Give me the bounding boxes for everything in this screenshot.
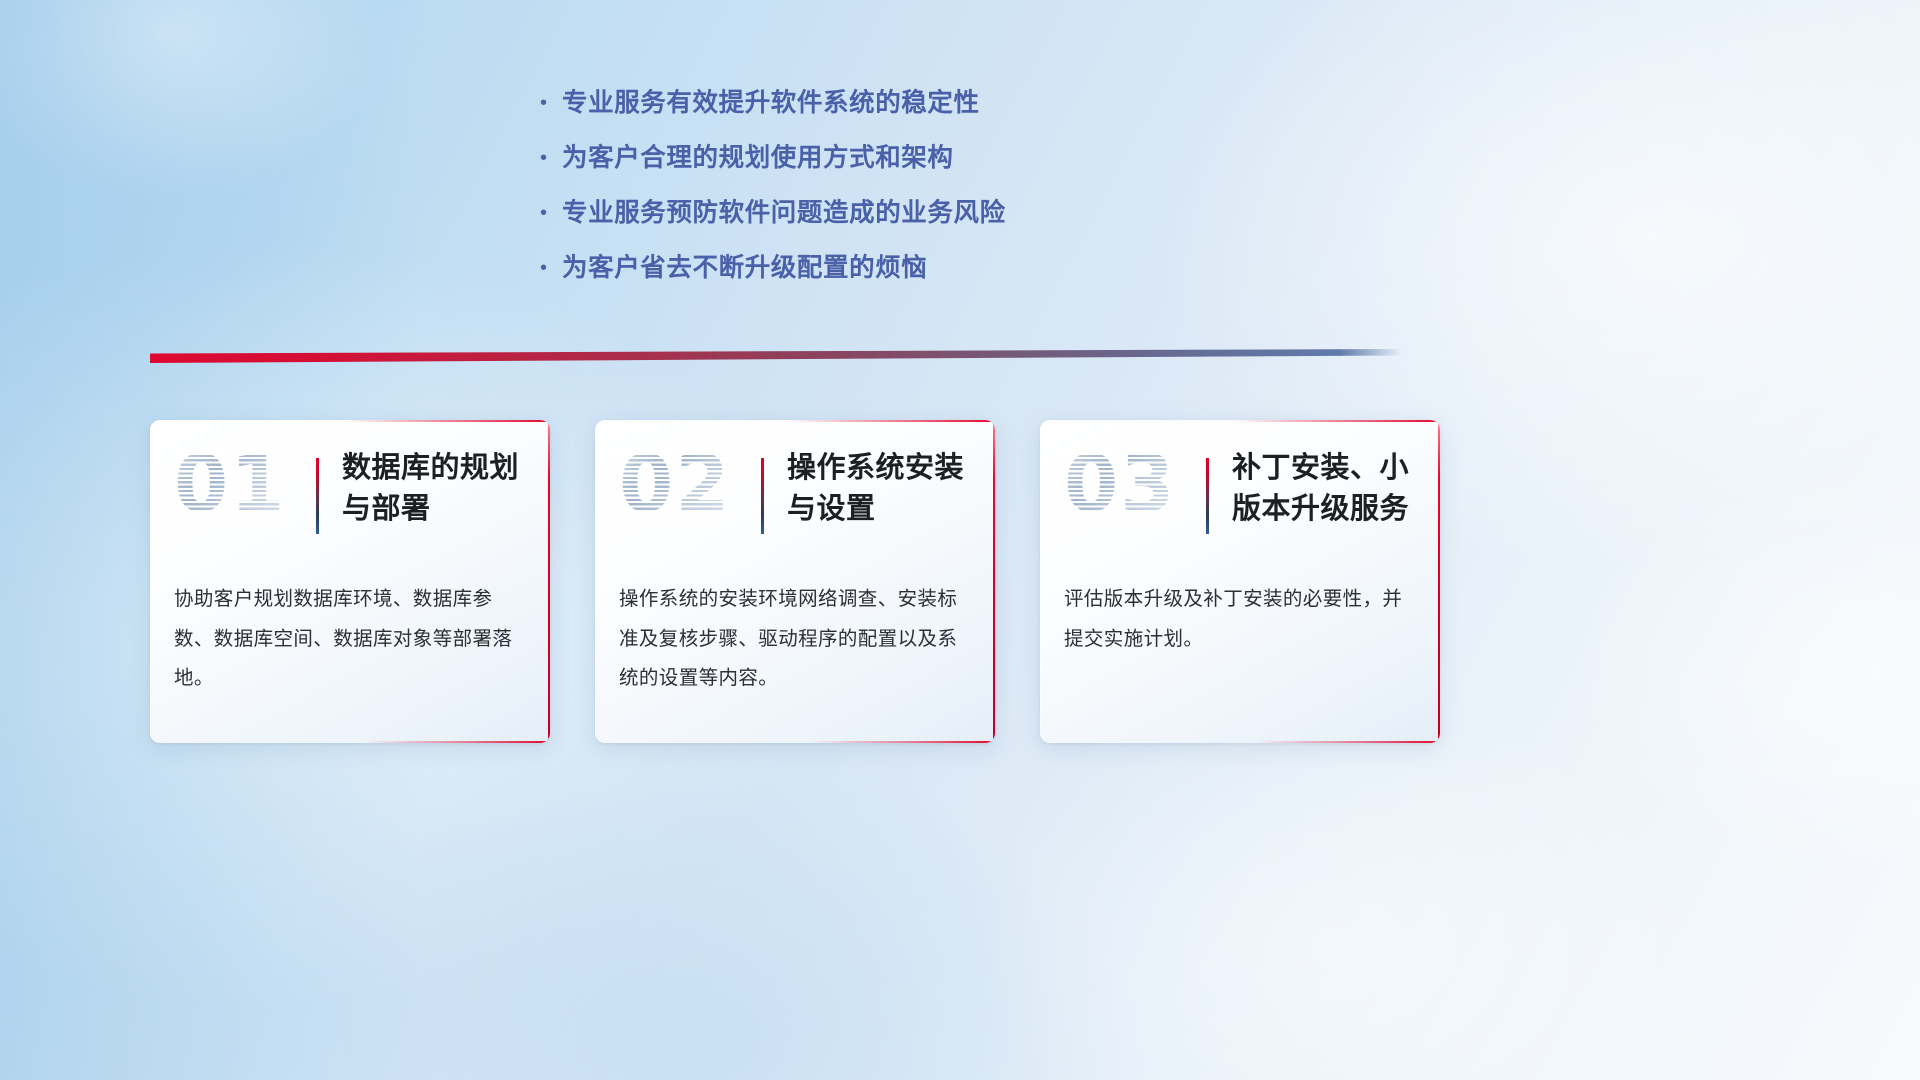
section-divider: [150, 349, 1402, 363]
bullet-list: • 专业服务有效提升软件系统的稳定性 • 为客户合理的规划使用方式和架构 • 专…: [540, 88, 1240, 308]
list-item: • 专业服务预防软件问题造成的业务风险: [540, 198, 1240, 230]
bullet-dot-icon: •: [540, 93, 562, 113]
service-card[interactable]: 01 数据库的规划与部署 协助客户规划数据库环境、数据库参数、数据库空间、数据库…: [150, 420, 550, 743]
card-header: 03 补丁安装、小版本升级服务: [1040, 442, 1440, 557]
card-body-text: 操作系统的安装环境网络调查、安装标准及复核步骤、驱动程序的配置以及系统的设置等内…: [619, 580, 971, 699]
card-header: 01 数据库的规划与部署: [150, 442, 550, 557]
card-title-divider-bar: [1206, 458, 1209, 534]
bullet-text: 专业服务预防软件问题造成的业务风险: [562, 198, 1006, 230]
card-title: 操作系统安装与设置: [787, 448, 977, 530]
list-item: • 专业服务有效提升软件系统的稳定性: [540, 88, 1240, 120]
card-red-accent-bottom: [1256, 741, 1440, 743]
service-card[interactable]: 03 补丁安装、小版本升级服务 评估版本升级及补丁安装的必要性，并提交实施计划。: [1040, 420, 1440, 743]
bullet-text: 专业服务有效提升软件系统的稳定性: [562, 88, 980, 120]
card-red-accent-top: [1232, 420, 1440, 422]
card-body-text: 协助客户规划数据库环境、数据库参数、数据库空间、数据库对象等部署落地。: [174, 580, 526, 699]
card-red-accent-bottom: [811, 741, 995, 743]
list-item: • 为客户省去不断升级配置的烦恼: [540, 253, 1240, 285]
bullet-dot-icon: •: [540, 203, 562, 223]
card-title-divider-bar: [316, 458, 319, 534]
bullet-dot-icon: •: [540, 148, 562, 168]
service-card-list: 01 数据库的规划与部署 协助客户规划数据库环境、数据库参数、数据库空间、数据库…: [150, 420, 1460, 743]
card-number-watermark: 02: [619, 446, 732, 524]
card-number-watermark: 03: [1064, 446, 1177, 524]
card-number-text: 02: [619, 446, 732, 524]
card-red-accent-top: [787, 420, 995, 422]
card-title: 数据库的规划与部署: [342, 448, 532, 530]
card-number-text: 01: [174, 446, 287, 524]
card-number-text: 03: [1064, 446, 1177, 524]
bullet-text: 为客户省去不断升级配置的烦恼: [562, 253, 927, 285]
card-red-accent-bottom: [366, 741, 550, 743]
card-body-text: 评估版本升级及补丁安装的必要性，并提交实施计划。: [1064, 580, 1416, 659]
divider-line: [150, 349, 1402, 363]
bullet-dot-icon: •: [540, 258, 562, 278]
service-card[interactable]: 02 操作系统安装与设置 操作系统的安装环境网络调查、安装标准及复核步骤、驱动程…: [595, 420, 995, 743]
list-item: • 为客户合理的规划使用方式和架构: [540, 143, 1240, 175]
card-title-divider-bar: [761, 458, 764, 534]
card-red-accent-top: [342, 420, 550, 422]
card-title: 补丁安装、小版本升级服务: [1232, 448, 1422, 530]
card-number-watermark: 01: [174, 446, 287, 524]
bullet-text: 为客户合理的规划使用方式和架构: [562, 143, 954, 175]
card-header: 02 操作系统安装与设置: [595, 442, 995, 557]
